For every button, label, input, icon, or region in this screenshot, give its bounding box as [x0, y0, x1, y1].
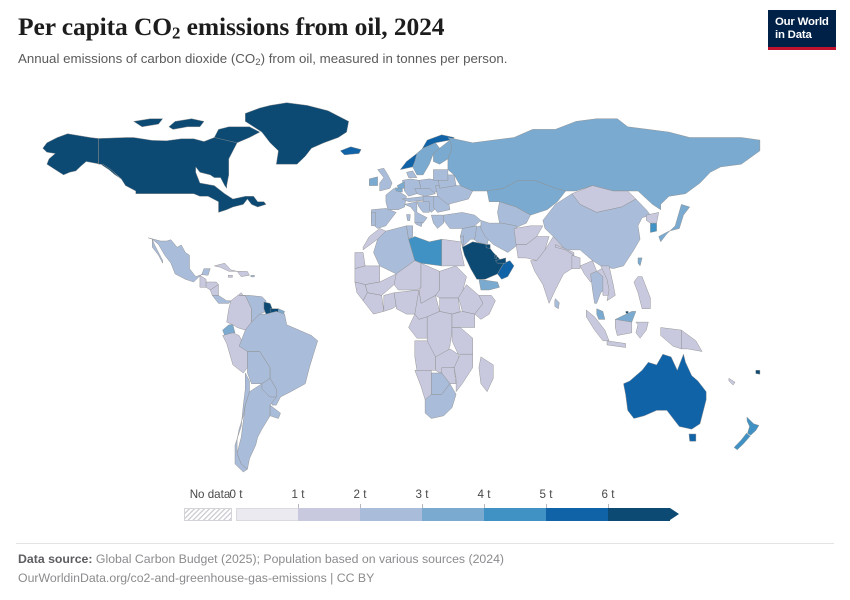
map-country-brunei[interactable] — [626, 311, 629, 313]
license-line[interactable]: OurWorldinData.org/co2-and-greenhouse-ga… — [18, 569, 832, 588]
map-country-ireland[interactable] — [369, 177, 377, 186]
map-country-iceland[interactable] — [340, 147, 361, 155]
owid-logo-line-1: Our World — [775, 16, 829, 29]
map-country-canada-arctic1[interactable] — [169, 119, 204, 130]
map-country-malaysia[interactable] — [597, 309, 605, 320]
legend-tick-mark-5 — [546, 504, 547, 508]
map-country-costarica-panama[interactable] — [212, 295, 231, 303]
owid-logo-line-2: in Data — [775, 29, 829, 42]
map-country-namibia[interactable] — [415, 370, 432, 399]
map-legend: No data 0 t1 t2 t3 t4 t5 t6 t — [0, 488, 850, 536]
map-country-hispaniola[interactable] — [237, 271, 249, 276]
map-country-canada-arctic2[interactable] — [134, 119, 163, 127]
map-country-bangladesh[interactable] — [572, 255, 580, 268]
legend-arrow-icon — [670, 508, 679, 520]
map-country-sierra-liberia-ivory[interactable] — [363, 293, 384, 314]
map-country-newzealand-s[interactable] — [734, 433, 750, 450]
map-country-newzealand-n[interactable] — [747, 417, 759, 435]
legend-bin-1[interactable] — [298, 508, 360, 521]
map-country-tanzania[interactable] — [452, 328, 473, 355]
map-country-fiji[interactable] — [756, 370, 760, 374]
legend-tick-label-3: 3 t — [416, 488, 429, 501]
data-source-line: Data source: Global Carbon Budget (2025)… — [18, 550, 832, 569]
map-country-tasmania[interactable] — [689, 434, 696, 441]
legend-tick-label-6: 6 t — [602, 488, 615, 501]
map-country-baltics[interactable] — [433, 170, 448, 181]
legend-tick-mark-2 — [360, 504, 361, 508]
chart-header: Per capita CO2 emissions from oil, 2024 … — [18, 12, 832, 69]
map-country-japan[interactable] — [659, 204, 690, 241]
legend-gradient-bar[interactable] — [236, 508, 670, 521]
legend-tick-label-4: 4 t — [478, 488, 491, 501]
map-country-sardinia[interactable] — [407, 215, 411, 221]
map-country-australia[interactable] — [624, 354, 707, 429]
map-country-uk[interactable] — [378, 168, 393, 191]
world-map-svg[interactable] — [0, 92, 850, 482]
legend-bin-6[interactable] — [608, 508, 670, 521]
map-country-southsudan[interactable] — [440, 298, 461, 314]
page-subtitle: Annual emissions of carbon dioxide (CO2)… — [18, 50, 832, 69]
map-country-jamaica[interactable] — [228, 275, 232, 277]
map-country-qatar[interactable] — [495, 255, 497, 259]
legend-bin-3[interactable] — [422, 508, 484, 521]
chart-footer: Data source: Global Carbon Budget (2025)… — [18, 550, 832, 589]
map-country-mexico[interactable] — [148, 238, 210, 282]
map-country-yemen[interactable] — [479, 279, 500, 290]
legend-tick-mark-4 — [484, 504, 485, 508]
map-country-srilanka[interactable] — [555, 299, 560, 309]
map-country-indonesia-papua[interactable] — [661, 328, 682, 349]
map-country-uruguay[interactable] — [270, 405, 280, 418]
footer-divider — [16, 543, 834, 544]
map-country-indonesia-sulawesi[interactable] — [636, 322, 648, 338]
legend-tick-mark-1 — [298, 504, 299, 508]
map-country-png[interactable] — [681, 330, 702, 351]
data-source-text: Global Carbon Budget (2025); Population … — [93, 552, 505, 566]
map-country-netherlands[interactable] — [397, 182, 404, 189]
map-country-greece[interactable] — [431, 215, 443, 228]
legend-bin-5[interactable] — [546, 508, 608, 521]
chart-frame: Per capita CO2 emissions from oil, 2024 … — [0, 0, 850, 600]
map-country-southkorea[interactable] — [650, 223, 656, 232]
owid-logo[interactable]: Our World in Data — [768, 10, 836, 50]
map-country-egypt[interactable] — [442, 239, 465, 266]
map-country-nigeria[interactable] — [394, 290, 419, 314]
map-country-philippines[interactable] — [634, 277, 651, 309]
legend-no-data-label: No data — [184, 488, 236, 501]
legend-tick-label-0: 0 t — [230, 488, 243, 501]
map-country-kuwait[interactable] — [486, 245, 490, 249]
map-country-newcaledonia[interactable] — [729, 378, 735, 385]
legend-bin-4[interactable] — [484, 508, 546, 521]
map-country-puertorico[interactable] — [251, 275, 255, 277]
map-country-sicily[interactable] — [416, 222, 423, 226]
map-country-guatemala[interactable] — [200, 275, 206, 287]
legend-no-data-swatch[interactable] — [184, 508, 232, 521]
map-country-chad[interactable] — [419, 263, 440, 303]
map-country-cuba[interactable] — [214, 263, 237, 271]
map-country-taiwan[interactable] — [638, 258, 642, 266]
map-country-portugal[interactable] — [371, 212, 375, 225]
legend-tick-label-1: 1 t — [292, 488, 305, 501]
world-map[interactable] — [0, 92, 850, 482]
data-source-label: Data source: — [18, 552, 93, 566]
legend-bin-0[interactable] — [236, 508, 298, 521]
legend-tick-mark-6 — [608, 504, 609, 508]
legend-tick-label-5: 5 t — [540, 488, 553, 501]
page-title: Per capita CO2 emissions from oil, 2024 — [18, 12, 832, 43]
legend-tick-mark-3 — [422, 504, 423, 508]
legend-bin-2[interactable] — [360, 508, 422, 521]
map-country-madagascar[interactable] — [479, 357, 493, 392]
map-country-uganda-kenya[interactable] — [452, 311, 475, 327]
legend-tick-label-2: 2 t — [354, 488, 367, 501]
map-country-indonesia-kalimantan[interactable] — [615, 319, 632, 335]
map-country-greenland[interactable] — [245, 103, 348, 165]
map-country-indonesia-java[interactable] — [607, 341, 626, 348]
map-country-israel[interactable] — [461, 236, 464, 246]
map-country-mauritania[interactable] — [355, 266, 380, 285]
map-country-croatia-bosnia[interactable] — [417, 202, 429, 213]
